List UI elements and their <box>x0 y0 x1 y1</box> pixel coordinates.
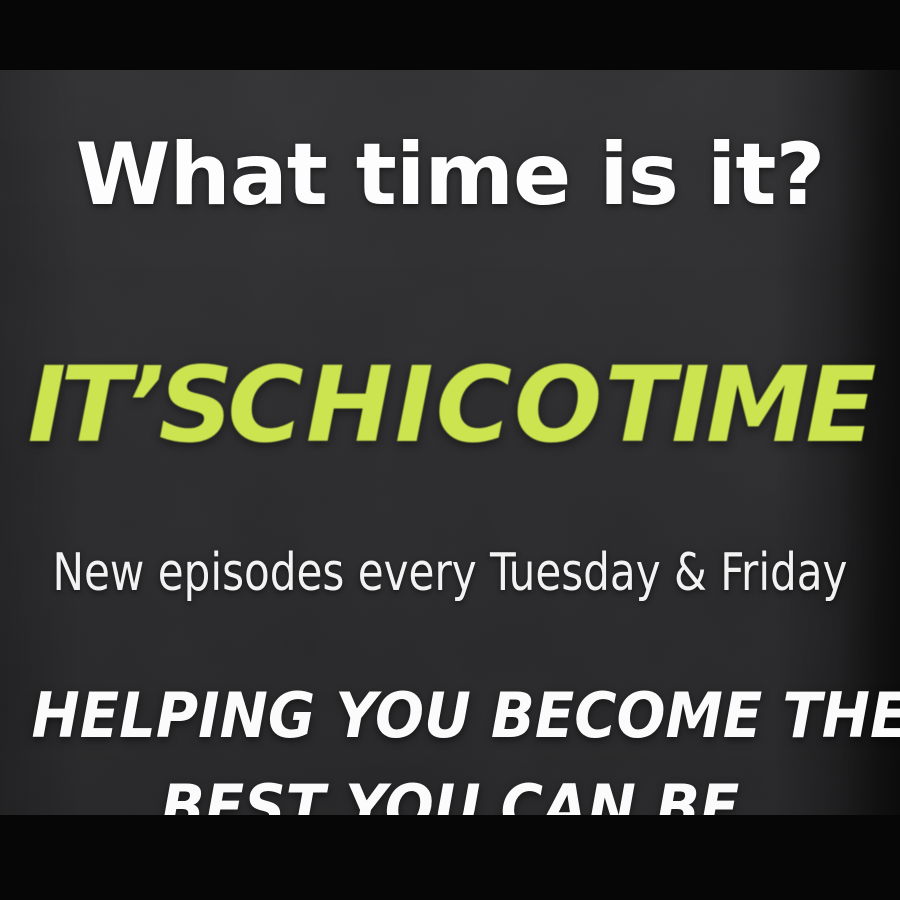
youtube-channel-thumbnail: What time is it? IT’SCHICOTIME New episo… <box>0 0 900 900</box>
letterbox-bar-top <box>0 0 900 70</box>
slogan-line-2: BEST YOU CAN BE <box>32 777 869 815</box>
tagline-part-time: TIME <box>604 344 872 466</box>
slogan-line-1: HELPING YOU BECOME THE <box>32 685 869 747</box>
headline-text: What time is it? <box>0 132 900 218</box>
tagline-part-chico: CHICO <box>228 344 605 466</box>
schedule-text: New episodes every Tuesday & Friday <box>45 547 855 599</box>
tagline-text: IT’SCHICOTIME <box>0 353 900 457</box>
tagline-part-its: IT’S <box>27 344 227 466</box>
letterbox-bar-bottom <box>0 815 900 900</box>
shirt-background: What time is it? IT’SCHICOTIME New episo… <box>0 70 900 815</box>
thumbnail-text-layer: What time is it? IT’SCHICOTIME New episo… <box>0 70 900 815</box>
